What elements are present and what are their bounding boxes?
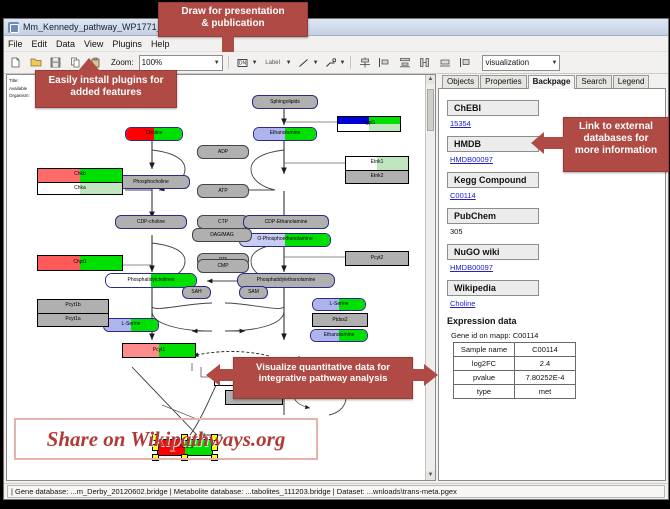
expr-value: 2.4 — [515, 357, 576, 371]
callout-draw-stem — [222, 32, 234, 52]
gene-box-chpt1[interactable]: Chpt1 — [37, 255, 123, 271]
callout-visualize: Visualize quantitative data for integrat… — [233, 357, 413, 399]
line-icon[interactable] — [295, 54, 312, 71]
callout-visualize-arrow-right — [424, 364, 438, 386]
expr-value: 7.80252E-4 — [515, 371, 576, 385]
tab-objects[interactable]: Objects — [442, 75, 479, 88]
callout-visualize-stem-left — [219, 369, 235, 381]
callout-plugins-text: Easily install plugins for added feature… — [48, 75, 163, 98]
node-l-serine-left[interactable]: L-Serine — [103, 318, 159, 332]
expr-key: log2FC — [454, 357, 515, 371]
save-icon[interactable] — [47, 54, 64, 71]
node-l-serine-right[interactable]: L-Serine — [312, 298, 366, 311]
tab-search[interactable]: Search — [576, 75, 611, 88]
gene-box-etnk[interactable]: Etnk1 Etnk2 — [345, 156, 409, 184]
gene-box-chk[interactable]: Chkb Chka — [37, 168, 123, 195]
menu-item-file[interactable]: File — [8, 39, 23, 49]
section-header-kegg: Kegg Compound — [447, 172, 539, 188]
callout-link-text: Link to external databases for more info… — [575, 121, 657, 156]
toolbar-separator — [350, 56, 351, 69]
tab-legend[interactable]: Legend — [613, 75, 650, 88]
menu-item-view[interactable]: View — [84, 39, 103, 49]
chevron-down-icon[interactable]: ▼ — [252, 60, 258, 66]
scroll-thumb[interactable] — [427, 89, 434, 131]
callout-plugins-stem — [83, 68, 95, 74]
line-tool[interactable]: ▼ — [295, 54, 319, 71]
title-bar: Mm_Kennedy_pathway_WP1771_45176.gpml — [4, 19, 668, 36]
new-icon[interactable] — [7, 54, 24, 71]
callout-link-stem — [543, 137, 565, 149]
tab-properties[interactable]: Properties — [480, 75, 526, 88]
tab-backpage[interactable]: Backpage — [528, 75, 576, 89]
callout-share-text: Share on Wikipathways.org — [47, 427, 286, 452]
menu-bar: File Edit Data View Plugins Help — [4, 36, 668, 52]
gene-id-on-mapp: Gene id on mapp: C00114 — [451, 331, 657, 340]
toolbar-separator — [228, 56, 229, 69]
align-center-icon[interactable] — [356, 54, 373, 71]
callout-visualize-stem-right — [409, 369, 425, 381]
group-icon[interactable] — [436, 54, 453, 71]
menu-item-data[interactable]: Data — [56, 39, 75, 49]
open-icon[interactable] — [27, 54, 44, 71]
scroll-down-icon[interactable]: ▼ — [426, 471, 435, 480]
pathvisio-icon — [8, 22, 19, 33]
node-o-phosphoethanolamine[interactable]: O-Phosphoethanolamine — [239, 233, 331, 247]
chevron-down-icon[interactable]: ▼ — [313, 60, 319, 66]
datanode-tool[interactable]: DN ▼ — [234, 54, 258, 71]
zoom-label: Zoom: — [111, 58, 134, 67]
svg-text:DN: DN — [239, 60, 247, 66]
label-tool-text: Label — [265, 60, 280, 66]
canvas-vertical-scrollbar[interactable]: ▲ ▼ — [425, 75, 435, 480]
screenshot-root: Mm_Kennedy_pathway_WP1771_45176.gpml Fil… — [0, 0, 670, 509]
callout-plugins: Easily install plugins for added feature… — [35, 70, 177, 108]
chevron-down-icon: ▼ — [552, 60, 558, 66]
chevron-down-icon: ▼ — [214, 60, 220, 66]
table-row: log2FC 2.4 — [454, 357, 576, 371]
distribute-icon[interactable] — [396, 54, 413, 71]
gene-label: Pcyt1a — [65, 316, 80, 322]
section-value-pubchem: 305 — [450, 227, 657, 236]
section-link-nugo[interactable]: HMDB00097 — [450, 263, 657, 272]
gene-label: Etnk2 — [371, 173, 384, 179]
side-panel-tabs: Objects Properties Backpage Search Legen… — [438, 74, 666, 89]
node-choline-top[interactable]: Choline — [125, 127, 183, 141]
section-link-kegg[interactable]: C00114 — [450, 191, 657, 200]
menu-item-plugins[interactable]: Plugins — [112, 39, 142, 49]
table-row: type met — [454, 385, 576, 399]
gene-label: Pcyt1b — [65, 302, 80, 308]
callout-visualize-arrow-left — [206, 364, 220, 386]
section-header-chebi: ChEBI — [447, 100, 539, 116]
gene-box-pcyt1[interactable]: Pcyt1b Pcyt1a — [37, 299, 109, 327]
expr-key: type — [454, 385, 515, 399]
section-header-pubchem: PubChem — [447, 208, 539, 224]
order-front-icon[interactable] — [456, 54, 473, 71]
visualization-value: visualization — [485, 58, 529, 67]
section-header-wikipedia: Wikipedia — [447, 280, 539, 296]
datanode-icon[interactable]: DN — [234, 54, 251, 71]
visualization-combo[interactable]: visualization ▼ — [482, 55, 560, 71]
expression-table: Sample name C00114 log2FC 2.4 pvalue 7.8… — [453, 342, 576, 399]
expr-value: met — [515, 385, 576, 399]
align-left-icon[interactable] — [376, 54, 393, 71]
label-icon[interactable]: Label — [261, 54, 285, 71]
same-width-icon[interactable] — [416, 54, 433, 71]
callout-share: Share on Wikipathways.org — [14, 418, 318, 460]
status-bar-text: | Gene database: ...m_Derby_20120602.bri… — [7, 485, 665, 498]
gene-box-pcyt1-bottom[interactable]: Pcyt1 — [122, 343, 196, 358]
expr-key: Sample name — [454, 343, 515, 357]
callout-visualize-text: Visualize quantitative data for integrat… — [256, 362, 390, 384]
table-row: pvalue 7.80252E-4 — [454, 371, 576, 385]
label-tool[interactable]: Label ▼ — [261, 54, 292, 71]
node-ethanolamine-top[interactable]: Ethanolamine — [253, 127, 317, 141]
gene-box-sgpl1[interactable]: Sgpl1 — [337, 116, 401, 132]
chevron-down-icon[interactable]: ▼ — [340, 60, 346, 66]
node-ethanolamine-bottom[interactable]: Ethanolamine — [310, 329, 368, 342]
section-link-wikipedia[interactable]: Choline — [450, 299, 657, 308]
menu-item-edit[interactable]: Edit — [32, 39, 48, 49]
chevron-down-icon[interactable]: ▼ — [286, 60, 292, 66]
callout-link: Link to external databases for more info… — [563, 117, 669, 172]
section-header-hmdb: HMDB — [447, 136, 539, 152]
menu-item-help[interactable]: Help — [151, 39, 170, 49]
node-phosphatidylcholines[interactable]: Phosphatidylcholines — [105, 273, 197, 288]
expression-data-title: Expression data — [447, 316, 657, 326]
anchor-icon[interactable] — [322, 54, 339, 71]
expr-key: pvalue — [454, 371, 515, 385]
scroll-up-icon[interactable]: ▲ — [426, 75, 435, 84]
zoom-combo[interactable]: 100% ▼ — [139, 55, 223, 71]
anchor-tool[interactable]: ▼ — [322, 54, 346, 71]
section-header-nugo: NuGO wiki — [447, 244, 539, 260]
status-bar: | Gene database: ...m_Derby_20120602.bri… — [4, 483, 668, 499]
expr-value: C00114 — [515, 343, 576, 357]
zoom-value: 100% — [142, 58, 162, 67]
table-row: Sample name C00114 — [454, 343, 576, 357]
